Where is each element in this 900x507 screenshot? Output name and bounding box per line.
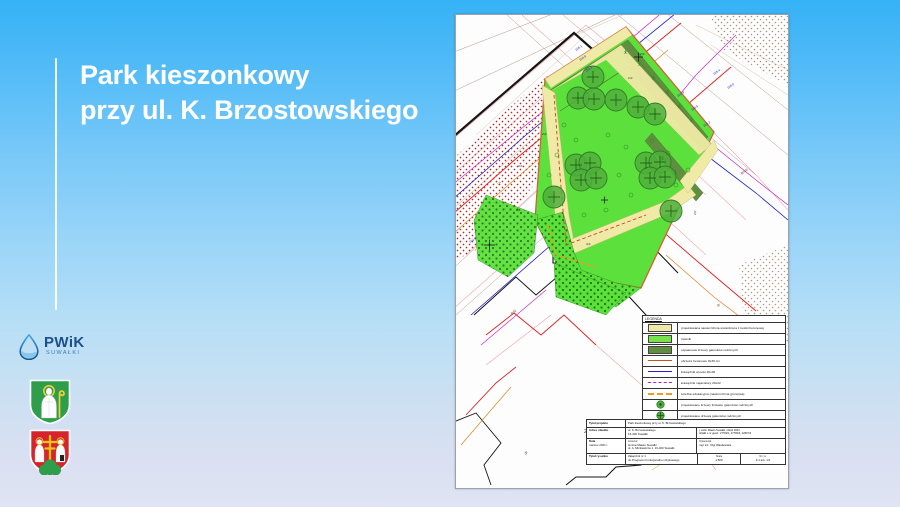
legend-label: obrzeże betonowe 8x30 cm bbox=[678, 359, 720, 363]
pwik-logo-text: PWiK bbox=[44, 335, 85, 350]
legend-label: projektowana nawierzchnia utwardzona z k… bbox=[678, 326, 764, 330]
svg-text:4,0: 4,0 bbox=[586, 242, 591, 246]
titleblock-author: Opracował: mgr inż. Olgi Wasilewska bbox=[697, 439, 785, 453]
swatch-hedge-icon bbox=[643, 345, 678, 355]
titleblock-investor-value: Gmina Miasto Suwałki ul. A. Mickiewicza … bbox=[628, 444, 694, 451]
titleblock-key: Tytuł projektu bbox=[587, 420, 626, 427]
page-title: Park kieszonkowy przy ul. K. Brzostowski… bbox=[80, 58, 440, 128]
titleblock-key: Tytuł rysunku bbox=[587, 454, 626, 464]
legend-row: projektowane krzewy liściaste gatunków r… bbox=[643, 400, 785, 411]
pwik-logo-subtitle: SUWAŁKI bbox=[46, 350, 80, 357]
swatch-paving-icon bbox=[643, 323, 678, 333]
line-blue-icon bbox=[643, 367, 678, 377]
legend-label: krawężnik najazdowy 20x22 bbox=[678, 381, 721, 385]
legend-row: ścieżka edukacyjna (nawierzchnia gruntow… bbox=[643, 389, 785, 400]
titleblock-scale: Skala 1:500 bbox=[698, 454, 741, 464]
titleblock-value: ul. K. Brzostowskiego 16-400 Suwałki bbox=[626, 428, 697, 438]
legend-label: ścieżka edukacyjna (nawierzchnia gruntow… bbox=[678, 392, 745, 396]
titleblock-attachment-of: do Programu Funkcjonalno-Użytkowego bbox=[628, 459, 695, 463]
titleblock-row-address: Adres obiektu ul. K. Brzostowskiego 16-4… bbox=[587, 428, 785, 439]
herb-suwalki-icon bbox=[29, 379, 71, 425]
thickdash-orange-icon bbox=[643, 389, 678, 399]
titleblock-scale-value: 1:500 bbox=[700, 459, 738, 463]
legend-label: szpalerowe krzewy gatunków rodzimych bbox=[678, 348, 738, 352]
titleblock-row-date: Data marzec 2021 r. Inwestor: Gmina Mias… bbox=[587, 439, 785, 454]
titleblock-value-parcels: j. ewid. Miasto Suwałki, obręb 0004 dzia… bbox=[697, 428, 785, 438]
svg-text:2,0: 2,0 bbox=[640, 52, 645, 56]
svg-text:2,0: 2,0 bbox=[542, 132, 547, 136]
site-plan-canvas: 165,1 164,8 164,3 163,9 163,5 163,2 165,… bbox=[456, 15, 788, 488]
titleblock-key: Adres obiektu bbox=[587, 428, 626, 438]
legend-row: projektowana nawierzchnia utwardzona z k… bbox=[643, 323, 785, 334]
title-line-2: przy ul. K. Brzostowskiego bbox=[80, 93, 440, 128]
legend-row: obrzeże betonowe 8x30 cm bbox=[643, 356, 785, 367]
legend-label: krawężnik wysoki 20x30 bbox=[678, 370, 715, 374]
dashline-magenta-icon bbox=[643, 378, 678, 388]
drawing-title-block: Tytuł projektu Park kieszonkowy przy ul.… bbox=[586, 419, 786, 465]
titleblock-row-project: Tytuł projektu Park kieszonkowy przy ul.… bbox=[587, 420, 785, 428]
water-drop-icon bbox=[18, 334, 40, 360]
titleblock-sheet: Nr rys. Z.1 ark. 1/1 bbox=[741, 454, 785, 464]
svg-text:3,0: 3,0 bbox=[518, 164, 523, 168]
titleblock-key: Data marzec 2021 r. bbox=[587, 439, 626, 453]
titleblock-date-value: marzec 2021 r. bbox=[589, 444, 623, 448]
legend-row: krawężnik najazdowy 20x22 bbox=[643, 378, 785, 389]
titleblock-investor: Inwestor: Gmina Miasto Suwałki ul. A. Mi… bbox=[626, 439, 697, 453]
svg-text:1,5: 1,5 bbox=[516, 208, 521, 212]
slide-root: Park kieszonkowy przy ul. K. Brzostowski… bbox=[0, 0, 900, 507]
legend-row: krawężnik wysoki 20x30 bbox=[643, 367, 785, 378]
circle-shrub-icon bbox=[643, 400, 678, 410]
legend-row: trawnik bbox=[643, 334, 785, 345]
herb-powiatu-icon bbox=[29, 429, 71, 475]
legend-label: projektowane krzewy liściaste gatunków r… bbox=[678, 403, 753, 407]
titleblock-value: Park kieszonkowy przy ul. K. Brzostowski… bbox=[626, 420, 785, 427]
titleblock-sheet-value: Z.1 ark. 1/1 bbox=[743, 459, 783, 463]
line-orange-icon bbox=[643, 356, 678, 366]
svg-text:2,0: 2,0 bbox=[693, 210, 697, 215]
titleblock-author-value: mgr inż. Olgi Wasilewska bbox=[699, 444, 783, 448]
svg-text:2,0: 2,0 bbox=[628, 76, 633, 80]
site-plan-panel[interactable]: 165,1 164,8 164,3 163,9 163,5 163,2 165,… bbox=[455, 14, 789, 489]
legend-label: trawnik bbox=[678, 337, 691, 341]
swatch-lawn-icon bbox=[643, 334, 678, 344]
legend-box: LEGENDA projektowana nawierzchnia utward… bbox=[642, 315, 786, 422]
legend-row: szpalerowe krzewy gatunków rodzimych bbox=[643, 345, 785, 356]
pwik-logo: PWiK SUWAŁKI bbox=[18, 332, 94, 362]
legend-label: projektowane drzewa gatunków rodzimych bbox=[678, 414, 741, 418]
titleblock-drawing-title: Załącznik nr 1 do Programu Funkcjonalno-… bbox=[626, 454, 698, 464]
title-line-1: Park kieszonkowy bbox=[80, 58, 440, 93]
title-divider-rule bbox=[55, 58, 57, 310]
titleblock-row-drawing: Tytuł rysunku Załącznik nr 1 do Programu… bbox=[587, 454, 785, 464]
